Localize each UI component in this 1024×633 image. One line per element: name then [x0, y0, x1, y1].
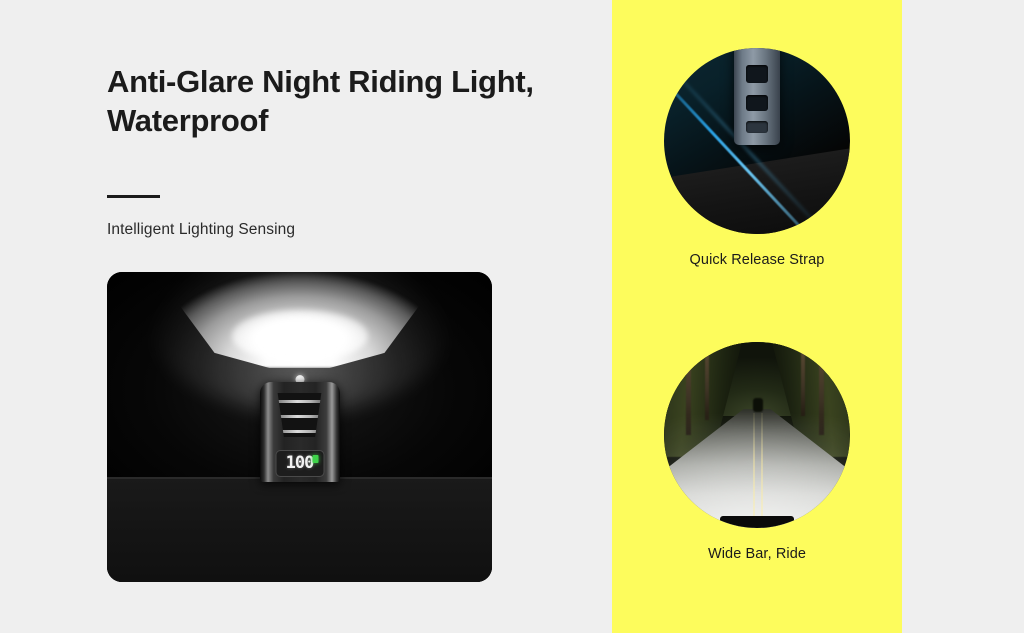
left-content-column: Anti-Glare Night Riding Light, Waterproo… [0, 0, 612, 633]
headlight-beam-wash [664, 420, 850, 528]
feature-caption: Quick Release Strap [612, 252, 902, 268]
feature-wide-bar-ride: Wide Bar, Ride [612, 342, 902, 562]
product-image: 100 [107, 272, 492, 582]
clip-slot [746, 65, 768, 83]
battery-lcd-display: 100 [275, 450, 324, 477]
clip-slot [746, 121, 768, 133]
handlebar-silhouette [720, 516, 794, 528]
clip-slot [746, 95, 768, 111]
feature-panel: Quick Release Strap Wide Bar, Ride [612, 0, 902, 633]
subtitle-text: Intelligent Lighting Sensing [107, 221, 295, 239]
strap-scene-floor [664, 143, 850, 234]
distant-rider [753, 398, 763, 412]
battery-percentage-value: 100 [286, 455, 314, 472]
product-feature-page: Anti-Glare Night Riding Light, Waterproo… [0, 0, 1024, 633]
title-divider [107, 195, 160, 198]
vent-fin [274, 415, 326, 418]
beam-hotspot [232, 310, 368, 362]
night-road-image [664, 342, 850, 528]
feature-quick-release-strap: Quick Release Strap [612, 48, 902, 268]
page-title: Anti-Glare Night Riding Light, Waterproo… [107, 62, 537, 140]
battery-indicator-icon [312, 455, 318, 463]
tree-trunk [705, 346, 709, 420]
strap-clip-body [734, 48, 780, 145]
tree-trunk [801, 346, 805, 417]
vent-fin [274, 400, 326, 403]
feature-caption: Wide Bar, Ride [612, 546, 902, 562]
image-ground-surface [107, 477, 492, 582]
quick-release-strap-image [664, 48, 850, 234]
